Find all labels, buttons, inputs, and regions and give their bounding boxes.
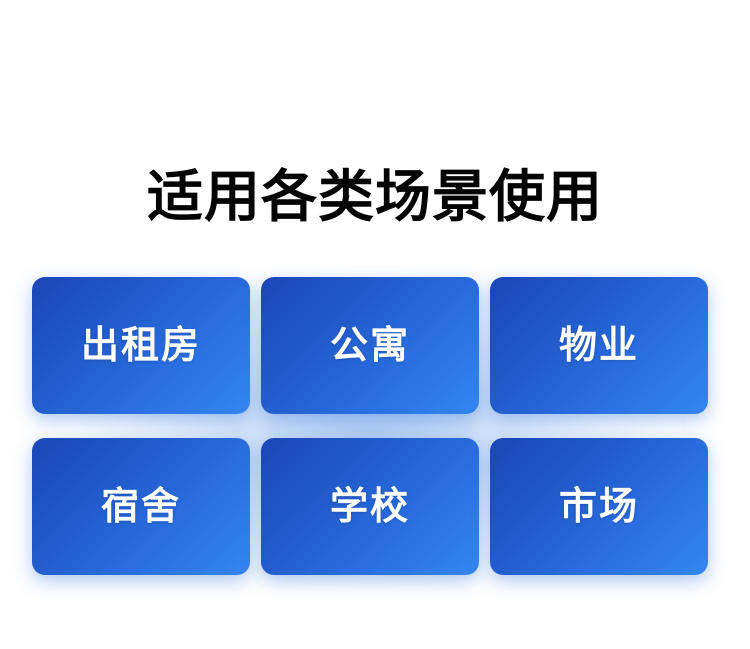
scenario-card-label: 物业: [559, 327, 639, 365]
scenario-card-label: 市场: [559, 488, 639, 526]
scenario-card-label: 宿舍: [101, 488, 181, 526]
scenario-card-school[interactable]: 学校: [261, 438, 479, 575]
scenario-card-label: 公寓: [330, 327, 410, 365]
scenario-card-label: 学校: [330, 488, 410, 526]
scenario-card-label: 出租房: [81, 327, 201, 365]
scenario-card-market[interactable]: 市场: [490, 438, 708, 575]
scenario-card-grid: 出租房 公寓 物业 宿舍 学校 市场: [32, 277, 708, 575]
scenario-card-dormitory[interactable]: 宿舍: [32, 438, 250, 575]
scenario-showcase-page: 适用各类场景使用 出租房 公寓 物业 宿舍 学校 市场: [0, 0, 750, 649]
scenario-card-apartment[interactable]: 公寓: [261, 277, 479, 414]
scenario-card-group: 出租房 公寓 物业 宿舍 学校 市场: [32, 277, 708, 575]
scenario-card-property-management[interactable]: 物业: [490, 277, 708, 414]
scenario-card-rental-house[interactable]: 出租房: [32, 277, 250, 414]
page-title: 适用各类场景使用: [0, 162, 750, 232]
